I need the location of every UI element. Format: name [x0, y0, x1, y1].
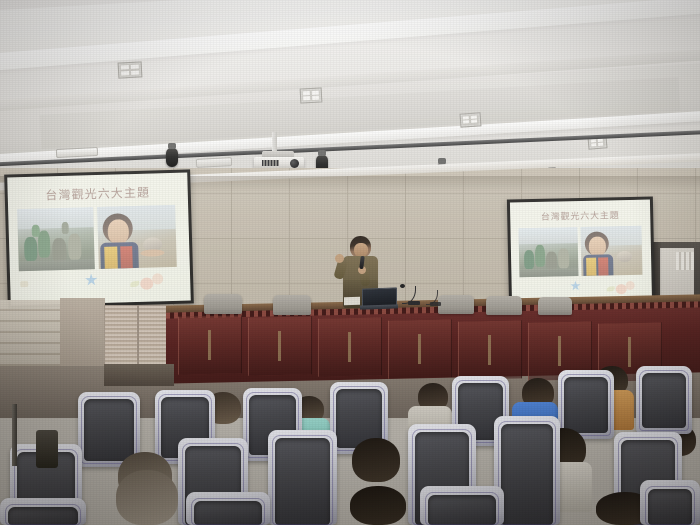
left-projection-screen: 台灣觀光六大主題 [4, 169, 194, 308]
microphone-base [408, 301, 420, 305]
track-spotlight [166, 148, 178, 167]
podium-handle [488, 335, 491, 365]
audience-chair[interactable] [420, 486, 504, 525]
microphone-base [430, 302, 441, 306]
audience-chair[interactable] [640, 480, 700, 525]
projector-vent [262, 160, 279, 166]
stage-chair[interactable] [204, 294, 242, 314]
podium-handle [348, 332, 351, 362]
stage-chair[interactable] [273, 295, 311, 315]
stage-chair[interactable] [438, 295, 474, 314]
door-louver-vent [676, 252, 694, 270]
podium-handle [418, 334, 421, 364]
microphone-capsule-icon [400, 284, 405, 288]
equipment-stand [12, 404, 17, 466]
audience-head [352, 438, 400, 482]
right-projection-screen: 台灣觀光六大主題 ★ [507, 196, 655, 309]
table-paper [344, 297, 360, 306]
podium-handle [278, 331, 281, 361]
equipment-box [36, 430, 58, 468]
podium-left-return [104, 364, 174, 386]
stage-chair[interactable] [538, 297, 572, 315]
recessed-ceiling-light [118, 61, 143, 78]
audience-chair[interactable] [186, 492, 270, 525]
audience-head [116, 470, 178, 525]
audience-chair[interactable] [636, 366, 692, 434]
audience-chair[interactable] [0, 498, 86, 525]
ceiling [0, 0, 700, 180]
podium-handle [558, 336, 561, 366]
vent-divider [137, 305, 139, 367]
screen-glare [510, 200, 652, 307]
audience-head [350, 486, 406, 525]
wall-louver-vent [104, 305, 174, 369]
recessed-ceiling-light [300, 87, 323, 103]
projector-lens-icon [290, 159, 299, 168]
recessed-ceiling-light [460, 112, 482, 127]
podium-handle [208, 330, 211, 360]
presenter-face [354, 243, 368, 257]
conference-hall-photo: 台灣觀光六大主題 [0, 0, 700, 525]
audience-chair[interactable] [268, 430, 337, 525]
screen-glare [7, 173, 191, 306]
soffit-panel-light [196, 157, 232, 168]
presenter-raised-hand [335, 254, 344, 263]
podium-handle [628, 337, 631, 367]
stage-chair[interactable] [486, 296, 522, 315]
